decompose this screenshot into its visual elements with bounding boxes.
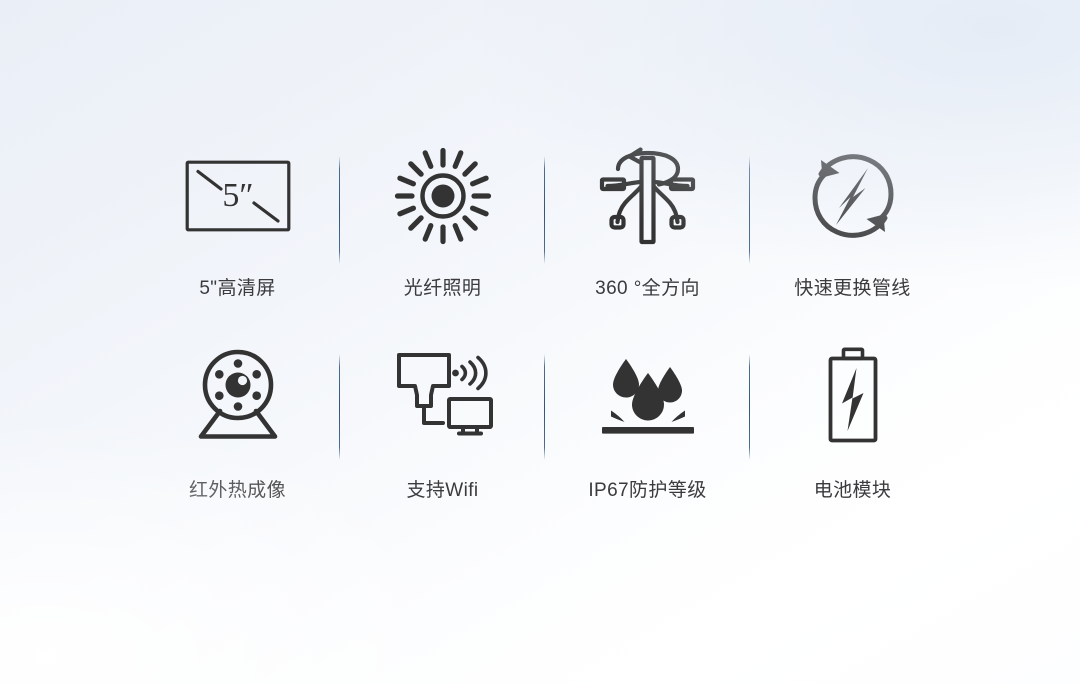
feature-label: 电池模块 bbox=[814, 480, 892, 503]
sun-light-icon bbox=[394, 140, 492, 252]
feature-label: 360 °全方向 bbox=[595, 278, 700, 301]
infrared-camera-icon bbox=[187, 340, 289, 450]
feature-item-fast-swap[interactable]: 快速更换管线 bbox=[750, 140, 955, 340]
feature-label: 5"高清屏 bbox=[199, 278, 275, 301]
feature-item-lighting[interactable]: 光纤照明 bbox=[340, 140, 545, 340]
feature-item-battery[interactable]: 电池模块 bbox=[750, 340, 955, 535]
feature-label: 光纤照明 bbox=[404, 278, 482, 301]
feature-grid: 5″ 5"高清屏 bbox=[135, 140, 955, 535]
feature-board: 5″ 5"高清屏 bbox=[0, 0, 1080, 683]
feature-item-360[interactable]: 360 °全方向 bbox=[545, 140, 750, 340]
svg-text:5″: 5″ bbox=[222, 177, 253, 214]
feature-item-wifi[interactable]: 支持Wifi bbox=[340, 340, 545, 535]
battery-module-icon bbox=[824, 340, 882, 450]
fast-swap-cable-icon bbox=[803, 140, 903, 252]
screen-5inch-icon: 5″ bbox=[185, 140, 291, 252]
feature-item-screen[interactable]: 5″ 5"高清屏 bbox=[135, 140, 340, 340]
feature-item-waterproof[interactable]: IP67防护等级 bbox=[545, 340, 750, 535]
wifi-monitor-icon bbox=[391, 340, 495, 450]
waterproof-droplets-icon bbox=[598, 340, 698, 450]
feature-item-infrared[interactable]: 红外热成像 bbox=[135, 340, 340, 535]
360-rotation-probe-icon bbox=[593, 140, 703, 252]
feature-label: IP67防护等级 bbox=[588, 480, 706, 503]
feature-label: 快速更换管线 bbox=[794, 278, 910, 301]
feature-label: 支持Wifi bbox=[406, 480, 478, 503]
feature-label: 红外热成像 bbox=[189, 480, 286, 503]
